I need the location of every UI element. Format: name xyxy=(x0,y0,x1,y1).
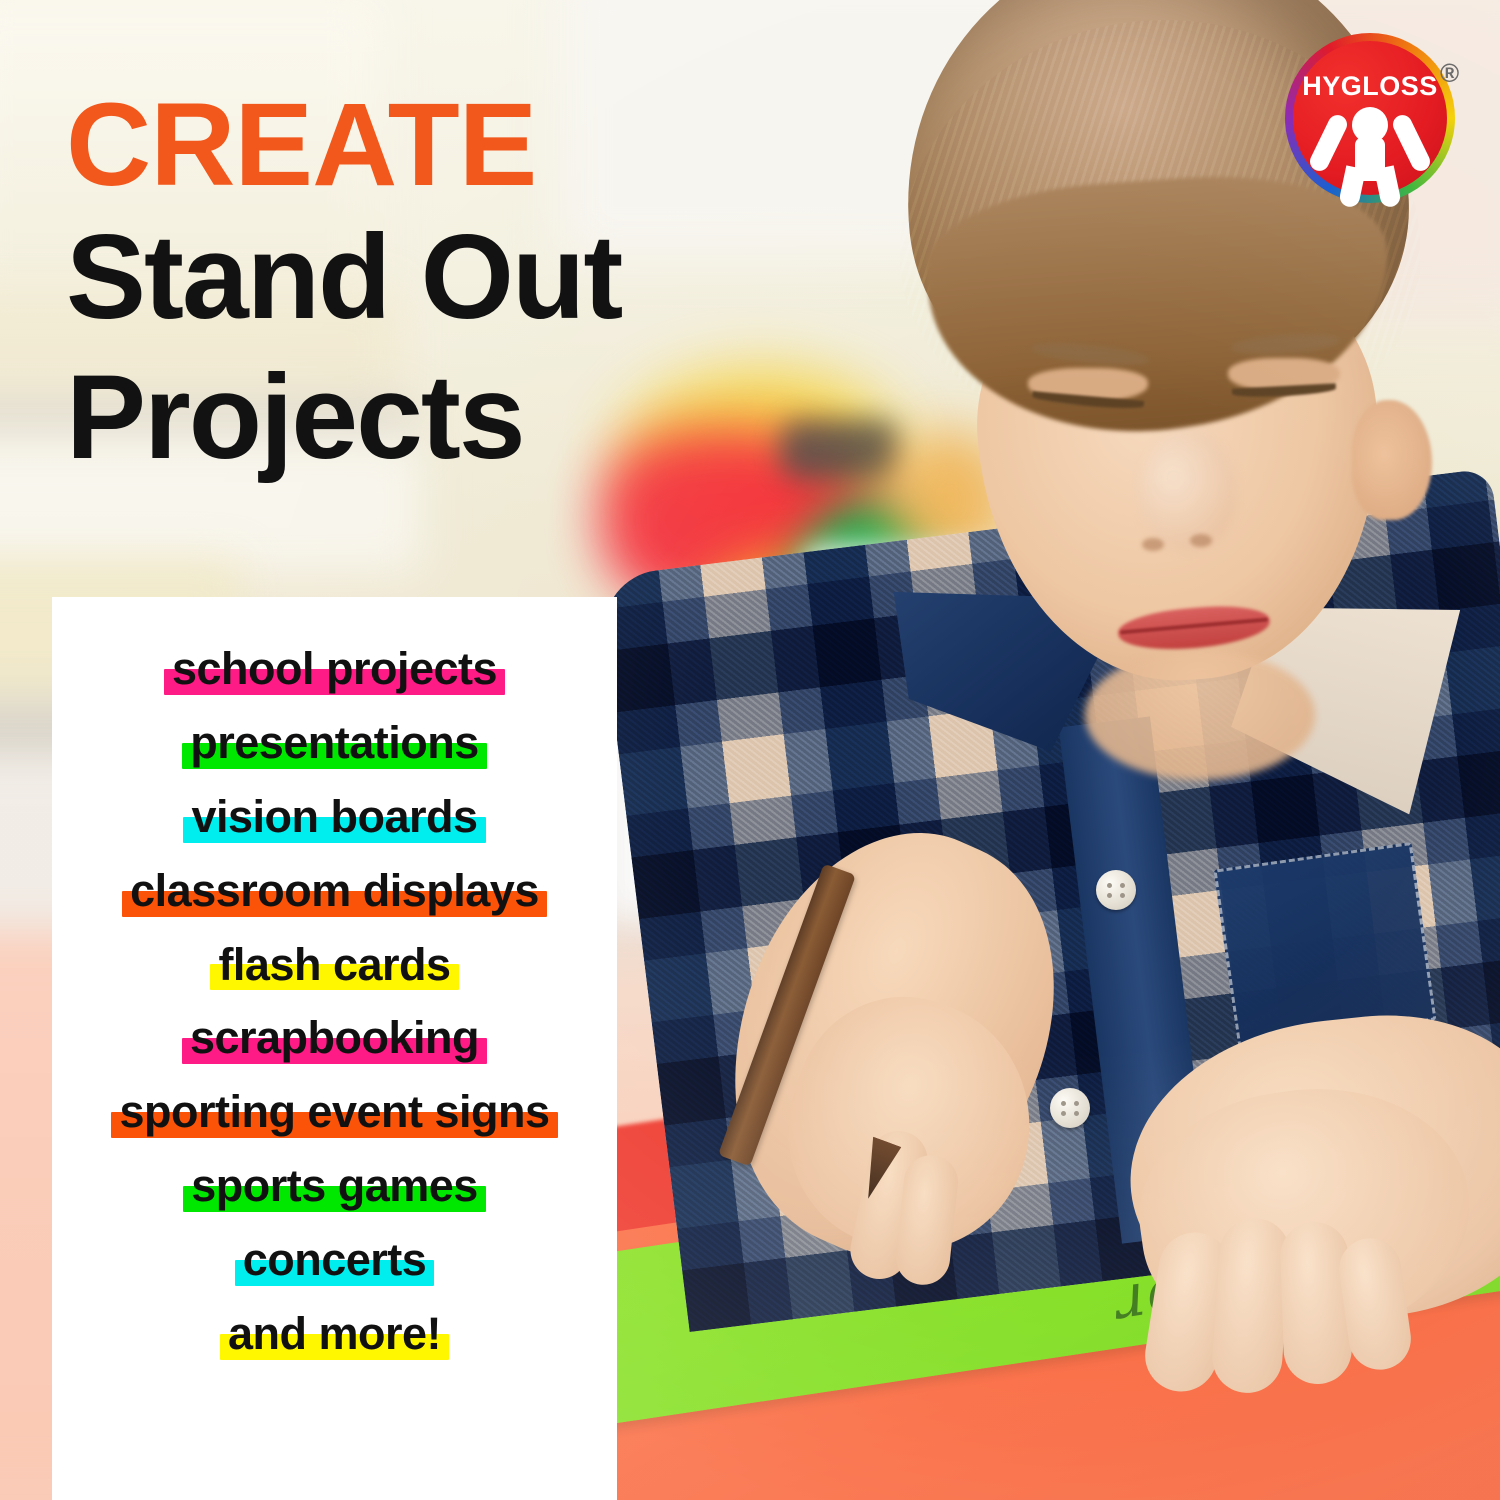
logo-leg-left xyxy=(1338,165,1366,208)
uses-list: school projects presentations vision boa… xyxy=(52,637,617,1366)
list-item: classroom displays xyxy=(130,859,539,923)
shirt-button-top xyxy=(1096,870,1136,910)
list-item-label: sports games xyxy=(191,1160,478,1211)
list-item: concerts xyxy=(243,1228,427,1292)
list-item: scrapbooking xyxy=(190,1006,479,1070)
list-item-label: flash cards xyxy=(218,939,450,990)
logo-wordmark: HYGLOSS xyxy=(1293,71,1447,102)
headline-accent-word: CREATE xyxy=(66,86,966,204)
logo-arm-left xyxy=(1307,112,1350,174)
headline-line-1: Stand Out xyxy=(66,210,966,344)
headline-block: CREATE Stand Out Projects xyxy=(66,86,966,485)
registered-trademark-icon: ® xyxy=(1440,58,1459,89)
product-marketing-image: Art is my favor xyxy=(0,0,1500,1500)
hygloss-logo: HYGLOSS xyxy=(1285,33,1455,203)
list-item: sporting event signs xyxy=(119,1080,549,1144)
list-item: presentations xyxy=(190,711,479,775)
list-item: and more! xyxy=(228,1302,441,1366)
list-item-label: sporting event signs xyxy=(119,1086,549,1137)
child-nostril-right xyxy=(1190,534,1212,547)
uses-panel: school projects presentations vision boa… xyxy=(52,597,617,1500)
list-item-label: and more! xyxy=(228,1308,441,1359)
list-item: school projects xyxy=(172,637,497,701)
list-item-label: school projects xyxy=(172,643,497,694)
list-item-label: concerts xyxy=(243,1234,427,1285)
shirt-button-bottom xyxy=(1050,1088,1090,1128)
logo-arm-right xyxy=(1390,112,1433,174)
list-item-label: scrapbooking xyxy=(190,1012,479,1063)
list-item: flash cards xyxy=(218,933,450,997)
list-item: sports games xyxy=(191,1154,478,1218)
child-chin xyxy=(1085,650,1315,780)
list-item: vision boards xyxy=(191,785,477,849)
list-item-label: presentations xyxy=(190,717,479,768)
list-item-label: classroom displays xyxy=(130,865,539,916)
logo-red-circle: HYGLOSS xyxy=(1293,41,1447,195)
child-finger-right-2 xyxy=(1210,1216,1292,1395)
headline-line-2: Projects xyxy=(66,350,966,484)
child-finger-right-3 xyxy=(1279,1221,1353,1385)
child-nostril-left xyxy=(1142,538,1164,551)
logo-leg-right xyxy=(1374,165,1402,208)
person-with-raised-arms-icon xyxy=(1293,107,1447,203)
child-nose xyxy=(1140,430,1236,550)
child-ear xyxy=(1352,400,1432,520)
list-item-label: vision boards xyxy=(191,791,477,842)
